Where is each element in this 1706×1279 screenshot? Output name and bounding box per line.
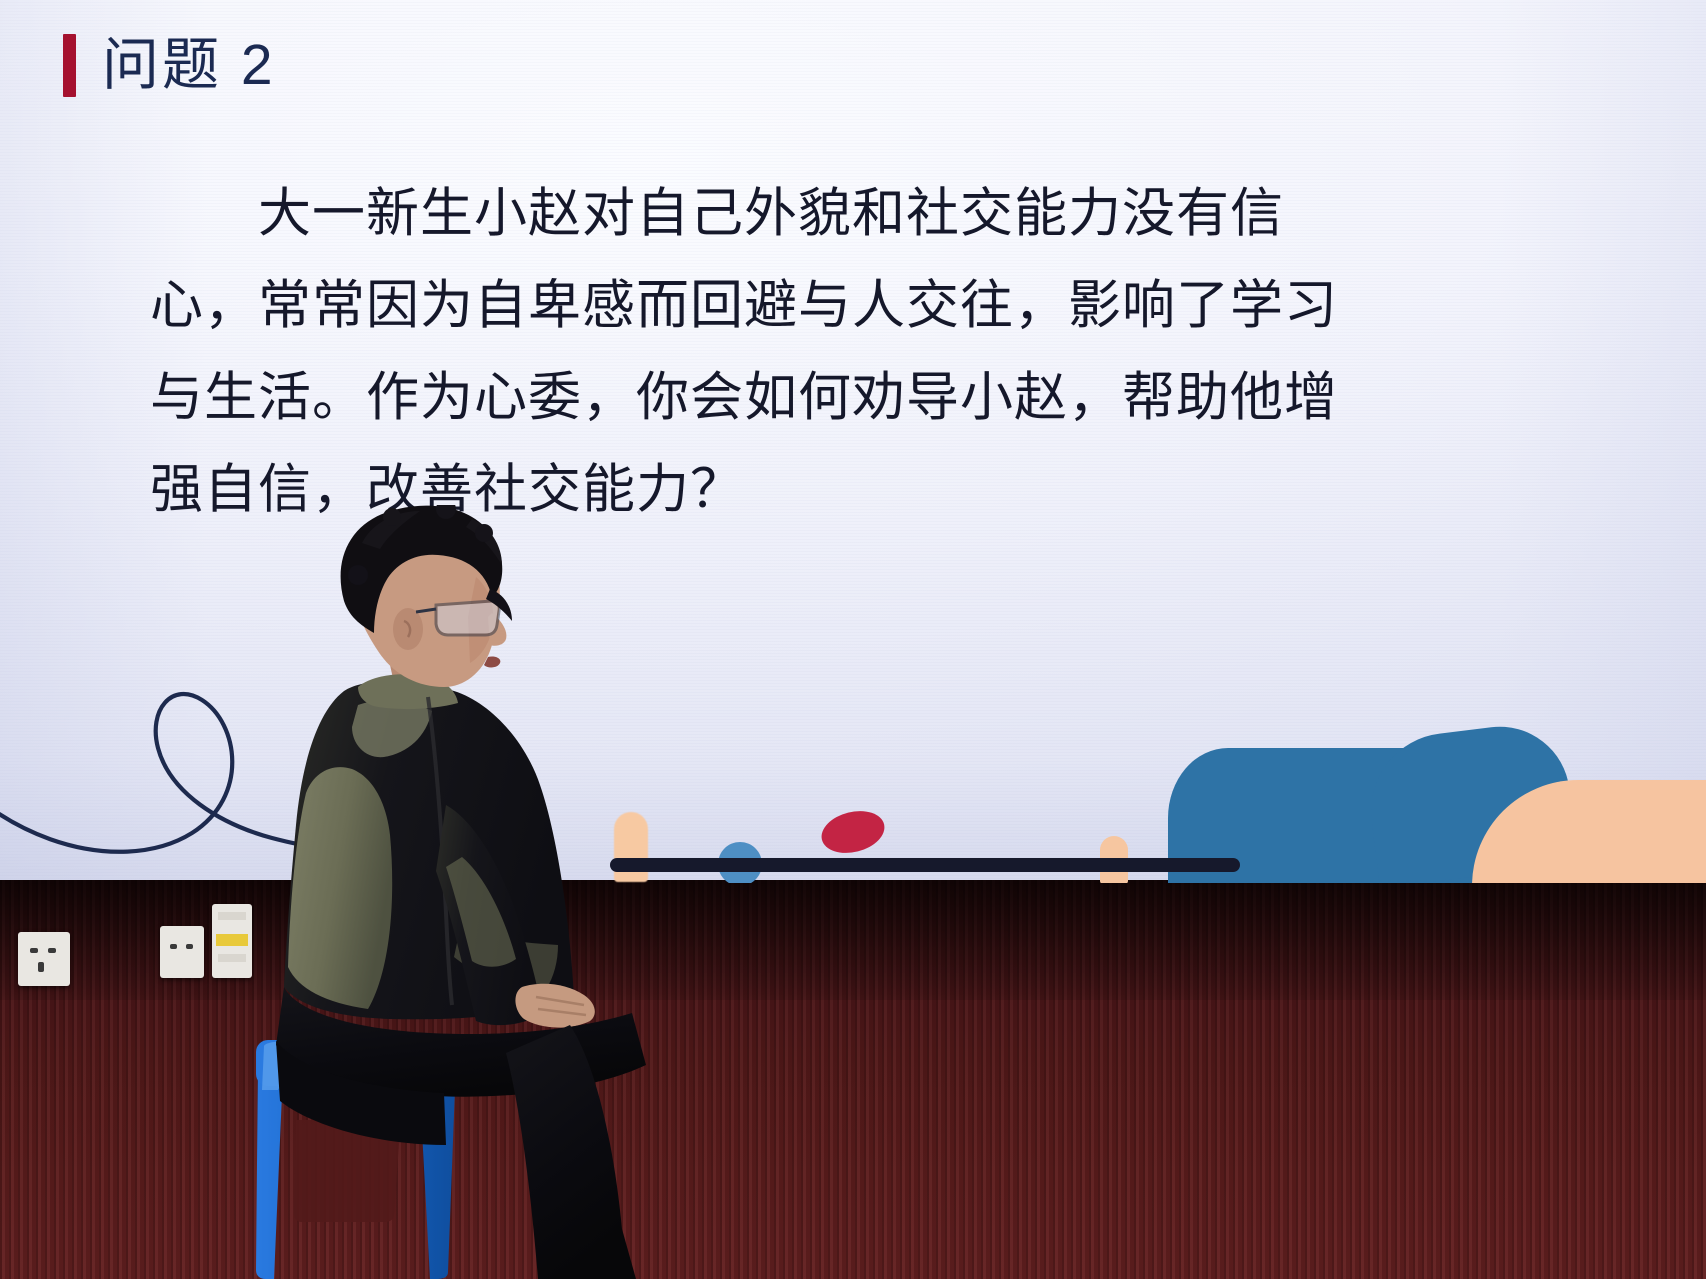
red-ellipse-decoration bbox=[817, 805, 889, 859]
power-outlet-center bbox=[160, 926, 204, 978]
photo-scene: 问题 2 大一新生小赵对自己外貌和社交能力没有信 心，常常因为自卑感而回避与人交… bbox=[0, 0, 1706, 1279]
slide-title: 问题 2 bbox=[102, 37, 276, 94]
slide-body: 大一新生小赵对自己外貌和社交能力没有信 心，常常因为自卑感而回避与人交往，影响了… bbox=[150, 168, 1420, 536]
dark-bar-decoration bbox=[610, 858, 1240, 872]
body-line-3: 与生活。作为心委，你会如何劝导小赵，帮助他增 bbox=[150, 352, 1420, 444]
body-line-1: 大一新生小赵对自己外貌和社交能力没有信 bbox=[150, 168, 1420, 260]
body-line-2: 心，常常因为自卑感而回避与人交往，影响了学习 bbox=[150, 260, 1420, 352]
slide-title-row: 问题 2 bbox=[63, 34, 276, 97]
seated-student bbox=[240, 505, 660, 1279]
power-outlet-left bbox=[18, 932, 70, 986]
title-accent-bar bbox=[63, 34, 76, 97]
